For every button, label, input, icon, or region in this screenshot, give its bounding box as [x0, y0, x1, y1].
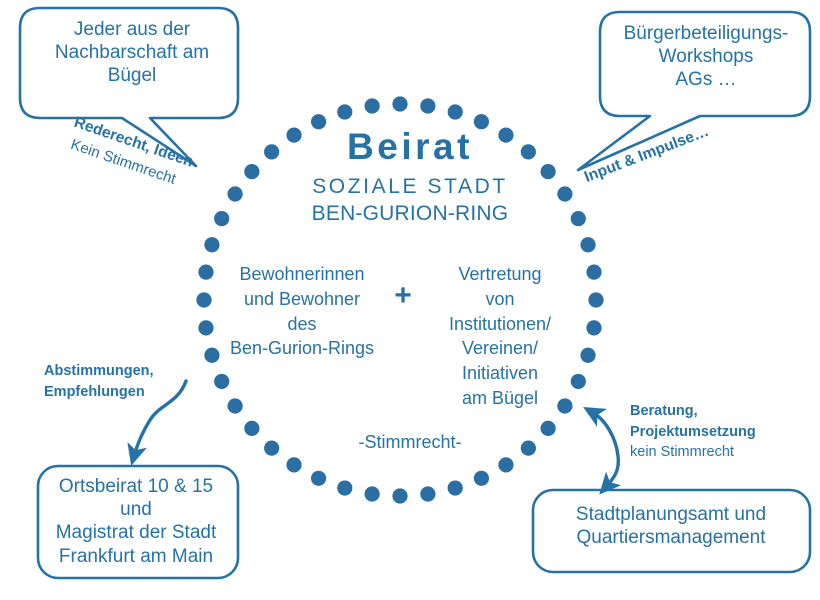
ring-dot: [214, 374, 229, 389]
ring-dot: [420, 486, 435, 501]
ring-dot: [541, 421, 556, 436]
flow-label-beratung-sub: kein Stimmrecht: [630, 442, 790, 463]
ring-dot: [228, 398, 243, 413]
voting-rights-note: -Stimmrecht-: [320, 432, 500, 454]
ring-dot: [337, 480, 352, 495]
ring-dot: [474, 471, 489, 486]
ring-dot: [214, 211, 229, 226]
center-subtitle-location: BEN-GURION-RING: [270, 203, 550, 225]
ring-dot: [196, 292, 211, 307]
ring-dot: [586, 265, 601, 280]
arrow-beratung: [592, 412, 618, 487]
ring-dot: [228, 186, 243, 201]
ring-dot: [365, 98, 380, 113]
ring-dot: [244, 421, 259, 436]
ring-dot: [498, 457, 513, 472]
ring-dot: [571, 211, 586, 226]
ring-dot: [580, 348, 595, 363]
ring-dot: [204, 237, 219, 252]
box-bottom-left-label: Ortsbeirat 10 & 15 und Magistrat der Sta…: [38, 475, 234, 568]
ring-dot: [448, 104, 463, 119]
ring-dot: [365, 486, 380, 501]
box-bottom-right-label: Stadtplanungsamt und Quartiersmanagement: [540, 503, 802, 549]
ring-dot: [420, 98, 435, 113]
member-group-institutions: Vertretung von Institutionen/ Vereinen/ …: [420, 262, 580, 411]
diagram-canvas: Jeder aus der Nachbarschaft am Bügel Bür…: [0, 0, 820, 600]
ring-dot: [337, 104, 352, 119]
ring-dot: [244, 164, 259, 179]
bubble-top-right-label: Bürgerbeteiligungs- Workshops AGs …: [608, 22, 804, 92]
flow-label-beratung-main: Beratung, Projektumsetzung: [630, 403, 756, 440]
bubble-top-left-label: Jeder aus der Nachbarschaft am Bügel: [34, 18, 230, 88]
ring-dot: [580, 237, 595, 252]
ring-dot: [286, 457, 301, 472]
ring-dot: [392, 488, 407, 503]
ring-dot: [448, 480, 463, 495]
ring-dot: [521, 441, 536, 456]
flow-label-abstimmungen: Abstimmungen, Empfehlungen: [44, 361, 194, 402]
ring-dot: [557, 186, 572, 201]
ring-dot: [392, 96, 407, 111]
ring-dot: [588, 292, 603, 307]
center-subtitle-program: SOZIALE STADT: [270, 176, 550, 198]
ring-dot: [586, 320, 601, 335]
ring-dot: [311, 471, 326, 486]
ring-dot: [264, 441, 279, 456]
center-title: Beirat: [270, 128, 550, 165]
plus-icon: +: [388, 278, 418, 315]
flow-label-beratung: Beratung, Projektumsetzung kein Stimmrec…: [630, 401, 790, 463]
member-group-residents: Bewohnerinnen und Bewohner des Ben-Gurio…: [212, 262, 392, 361]
